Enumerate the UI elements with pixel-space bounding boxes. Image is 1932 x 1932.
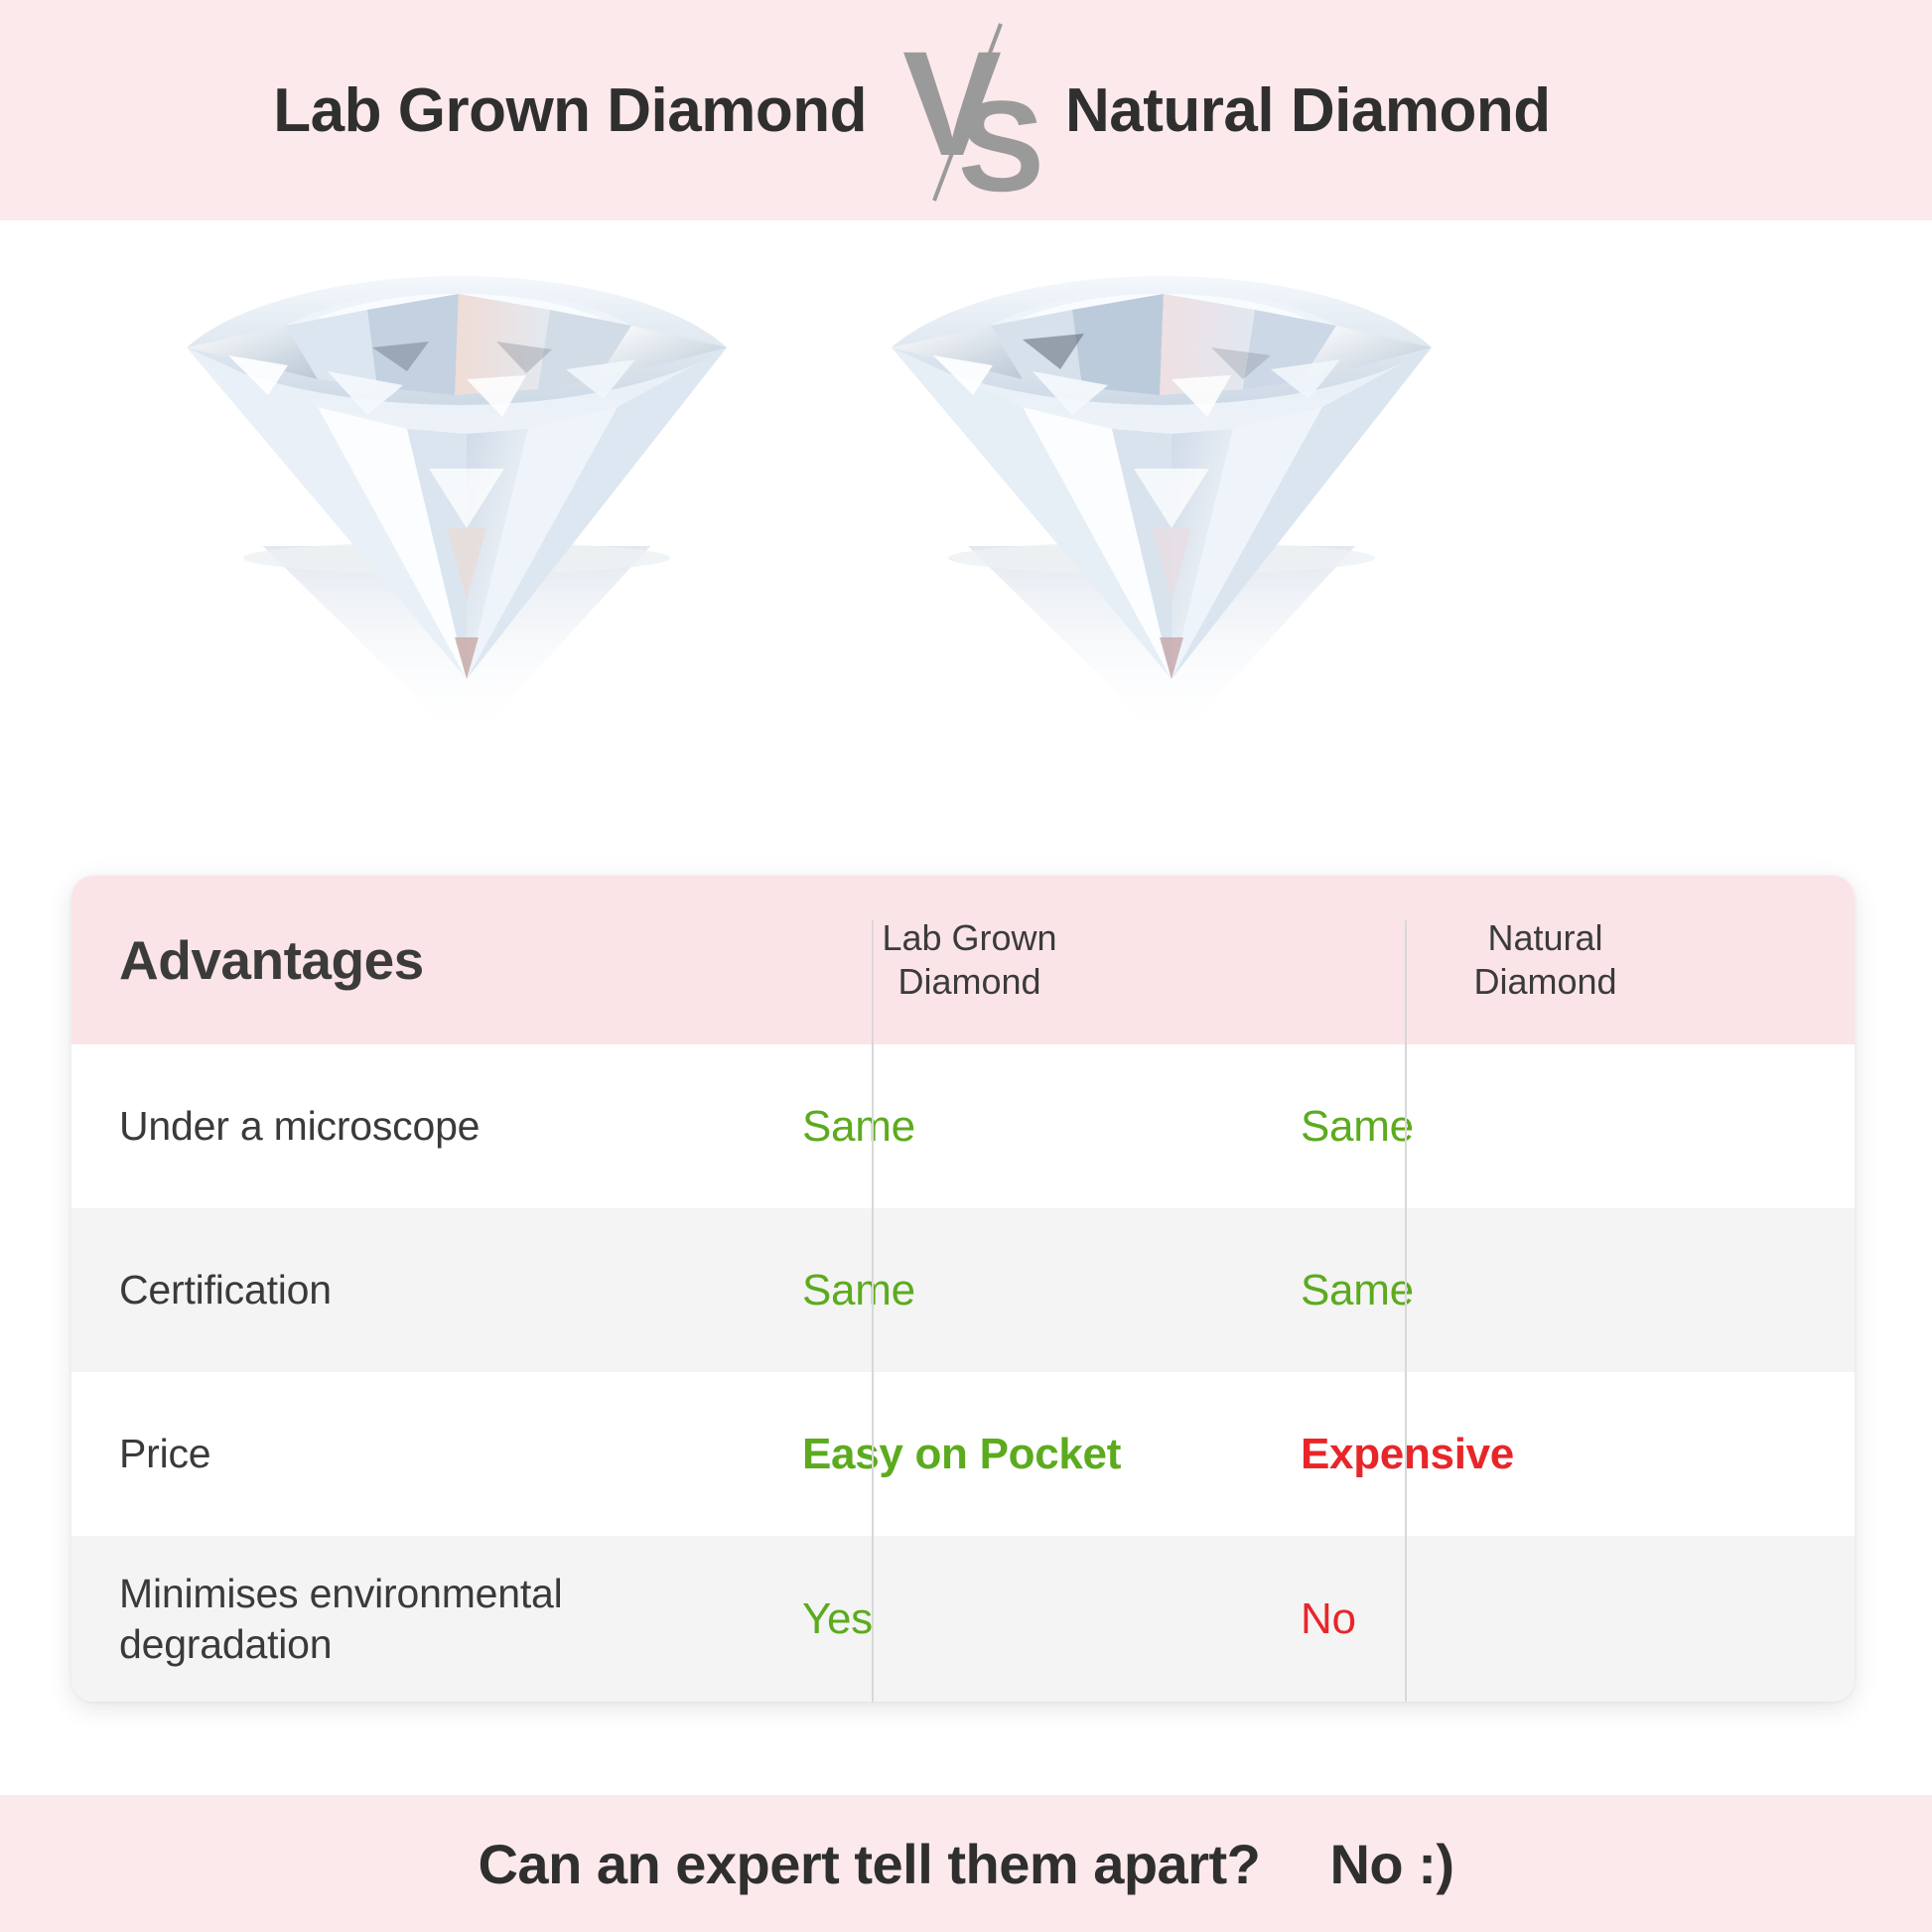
- natural-heading-line1: Natural: [1473, 916, 1616, 960]
- row-label-cell: Minimises environmental degradation: [71, 1536, 703, 1702]
- comparison-table-card: Advantages Lab Grown Diamond Natural Dia…: [71, 876, 1855, 1702]
- row-natural-cell: Same: [1236, 1044, 1855, 1208]
- natural-diamond-image: [874, 230, 1449, 786]
- row-natural-value: No: [1246, 1594, 1845, 1644]
- column-divider-1: [872, 920, 874, 1702]
- footer-question: Can an expert tell them apart?: [478, 1833, 1260, 1895]
- table-header-row: Advantages Lab Grown Diamond Natural Dia…: [71, 876, 1855, 1044]
- row-lab-grown-cell: Easy on Pocket: [703, 1372, 1236, 1536]
- row-label-line1: Minimises environmental: [119, 1571, 563, 1616]
- table-row: Under a microscope Same Same: [71, 1044, 1855, 1208]
- column-divider-2: [1405, 920, 1407, 1702]
- advantages-heading: Advantages: [119, 928, 424, 992]
- row-label: Minimises environmental degradation: [119, 1569, 563, 1668]
- table-row: Price Easy on Pocket Expensive: [71, 1372, 1855, 1536]
- row-lab-grown-value: Same: [713, 1102, 1226, 1152]
- row-label-cell: Under a microscope: [71, 1044, 703, 1208]
- row-lab-grown-value: Easy on Pocket: [713, 1430, 1226, 1479]
- lab-grown-diamond-image: [169, 230, 745, 786]
- row-label: Certification: [119, 1265, 332, 1314]
- row-label-cell: Price: [71, 1372, 703, 1536]
- row-label-cell: Certification: [71, 1208, 703, 1372]
- row-natural-cell: No: [1236, 1536, 1855, 1702]
- row-lab-grown-cell: Same: [703, 1044, 1236, 1208]
- table-row: Minimises environmental degradation Yes …: [71, 1536, 1855, 1702]
- natural-diamond-title: Natural Diamond: [1065, 75, 1869, 146]
- row-label: Under a microscope: [119, 1101, 480, 1151]
- row-lab-grown-cell: Same: [703, 1208, 1236, 1372]
- vs-icon: V S: [867, 16, 1065, 205]
- row-natural-value: Expensive: [1246, 1430, 1845, 1479]
- natural-column-heading: Natural Diamond: [1473, 916, 1616, 1004]
- natural-heading-line2: Diamond: [1473, 960, 1616, 1004]
- lab-grown-column-heading: Lab Grown Diamond: [882, 916, 1056, 1004]
- diamond-hero-section: [0, 220, 1932, 836]
- table-header-lab-grown-cell: Lab Grown Diamond: [703, 876, 1236, 1044]
- row-natural-cell: Expensive: [1236, 1372, 1855, 1536]
- lab-grown-title: Lab Grown Diamond: [63, 75, 867, 146]
- svg-text:S: S: [958, 73, 1044, 205]
- top-title-banner: Lab Grown Diamond V S Natural Diamond: [0, 0, 1932, 220]
- row-label-line2: degradation: [119, 1621, 332, 1667]
- footer-answer: No :): [1329, 1833, 1453, 1895]
- row-natural-value: Same: [1246, 1102, 1845, 1152]
- row-lab-grown-cell: Yes: [703, 1536, 1236, 1702]
- row-natural-cell: Same: [1236, 1208, 1855, 1372]
- table-header-advantages-cell: Advantages: [71, 876, 703, 1044]
- comparison-table: Advantages Lab Grown Diamond Natural Dia…: [71, 876, 1855, 1702]
- footer-banner: Can an expert tell them apart? No :): [0, 1795, 1932, 1932]
- row-label: Price: [119, 1429, 210, 1478]
- infographic-page: Lab Grown Diamond V S Natural Diamond: [0, 0, 1932, 1932]
- lab-grown-heading-line1: Lab Grown: [882, 916, 1056, 960]
- table-header-natural-cell: Natural Diamond: [1236, 876, 1855, 1044]
- row-lab-grown-value: Yes: [713, 1594, 1226, 1644]
- lab-grown-heading-line2: Diamond: [882, 960, 1056, 1004]
- row-natural-value: Same: [1246, 1266, 1845, 1315]
- footer-text: Can an expert tell them apart? No :): [478, 1832, 1453, 1896]
- row-lab-grown-value: Same: [713, 1266, 1226, 1315]
- table-row: Certification Same Same: [71, 1208, 1855, 1372]
